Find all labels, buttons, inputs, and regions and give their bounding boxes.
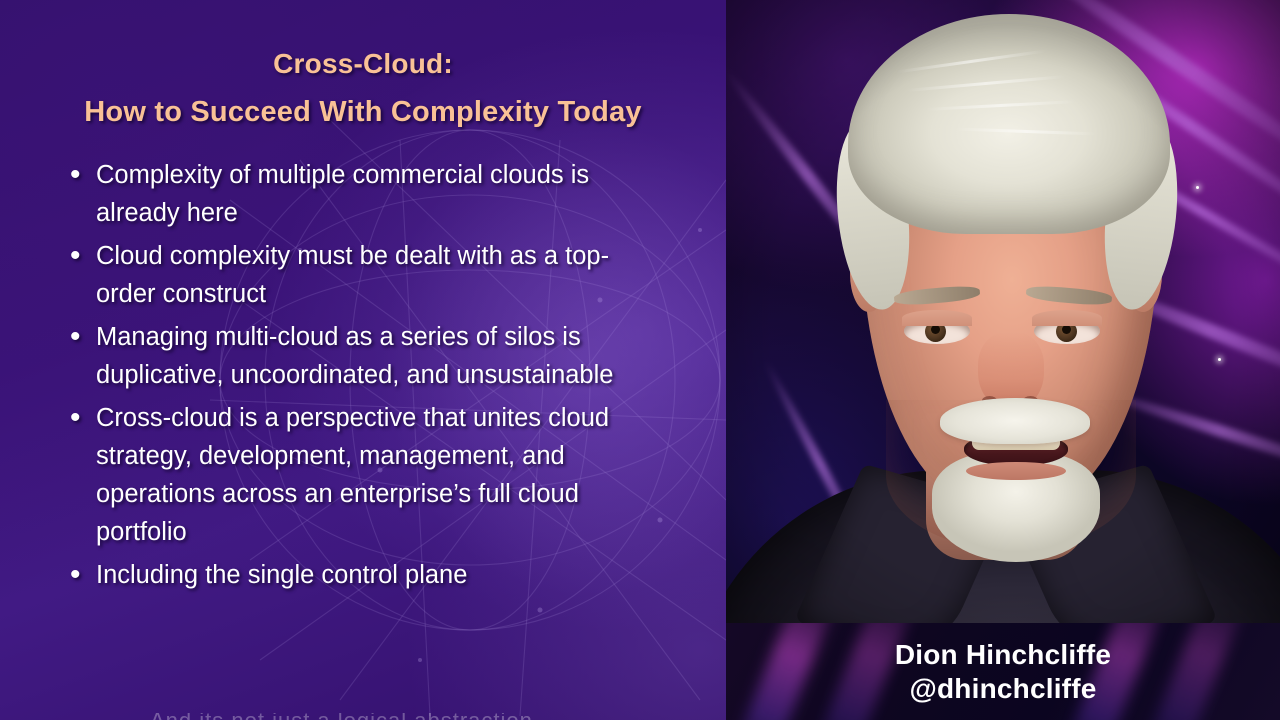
hair: [848, 14, 1170, 234]
slide-title-line-1: Cross-Cloud:: [273, 48, 453, 79]
list-item: • Managing multi-cloud as a series of si…: [62, 318, 712, 394]
slide-bullet-list: • Complexity of multiple commercial clou…: [62, 156, 712, 599]
speaker-caption-bar: Dion Hinchcliffe @dhinchcliffe: [726, 623, 1280, 720]
bullet-marker-icon: •: [62, 399, 96, 437]
video-panel[interactable]: Dion Hinchcliffe @dhinchcliffe: [726, 0, 1280, 720]
bullet-text: Cloud complexity must be dealt with as a…: [96, 237, 656, 313]
slide-title-line-2: How to Succeed With Complexity Today: [0, 88, 726, 136]
clipped-bottom-text: And its not just a logical abstraction: [150, 713, 590, 720]
caption-text: Dion Hinchcliffe @dhinchcliffe: [726, 623, 1280, 720]
bullet-marker-icon: •: [62, 156, 96, 194]
bullet-marker-icon: •: [62, 237, 96, 275]
bullet-text: Cross-cloud is a perspective that unites…: [96, 399, 656, 551]
speaker-handle: @dhinchcliffe: [909, 672, 1096, 705]
bullet-text: Including the single control plane: [96, 556, 467, 594]
slide-title: Cross-Cloud: How to Succeed With Complex…: [0, 40, 726, 136]
speaker-portrait: [726, 0, 1280, 720]
list-item: • Cloud complexity must be dealt with as…: [62, 237, 712, 313]
list-item: • Including the single control plane: [62, 556, 712, 594]
bullet-text: Complexity of multiple commercial clouds…: [96, 156, 656, 232]
list-item: • Cross-cloud is a perspective that unit…: [62, 399, 712, 551]
presentation-screen: Cross-Cloud: How to Succeed With Complex…: [0, 0, 1280, 720]
eyelid-right: [1032, 310, 1102, 326]
mustache: [940, 398, 1090, 444]
list-item: • Complexity of multiple commercial clou…: [62, 156, 712, 232]
bullet-marker-icon: •: [62, 556, 96, 594]
bullet-marker-icon: •: [62, 318, 96, 356]
pupil-right: [1062, 325, 1071, 334]
slide-panel: Cross-Cloud: How to Succeed With Complex…: [0, 0, 726, 720]
bullet-text: Managing multi-cloud as a series of silo…: [96, 318, 656, 394]
speaker-name: Dion Hinchcliffe: [895, 638, 1111, 671]
eyelid-left: [902, 310, 972, 326]
lower-lip: [966, 462, 1066, 480]
pupil-left: [931, 325, 940, 334]
